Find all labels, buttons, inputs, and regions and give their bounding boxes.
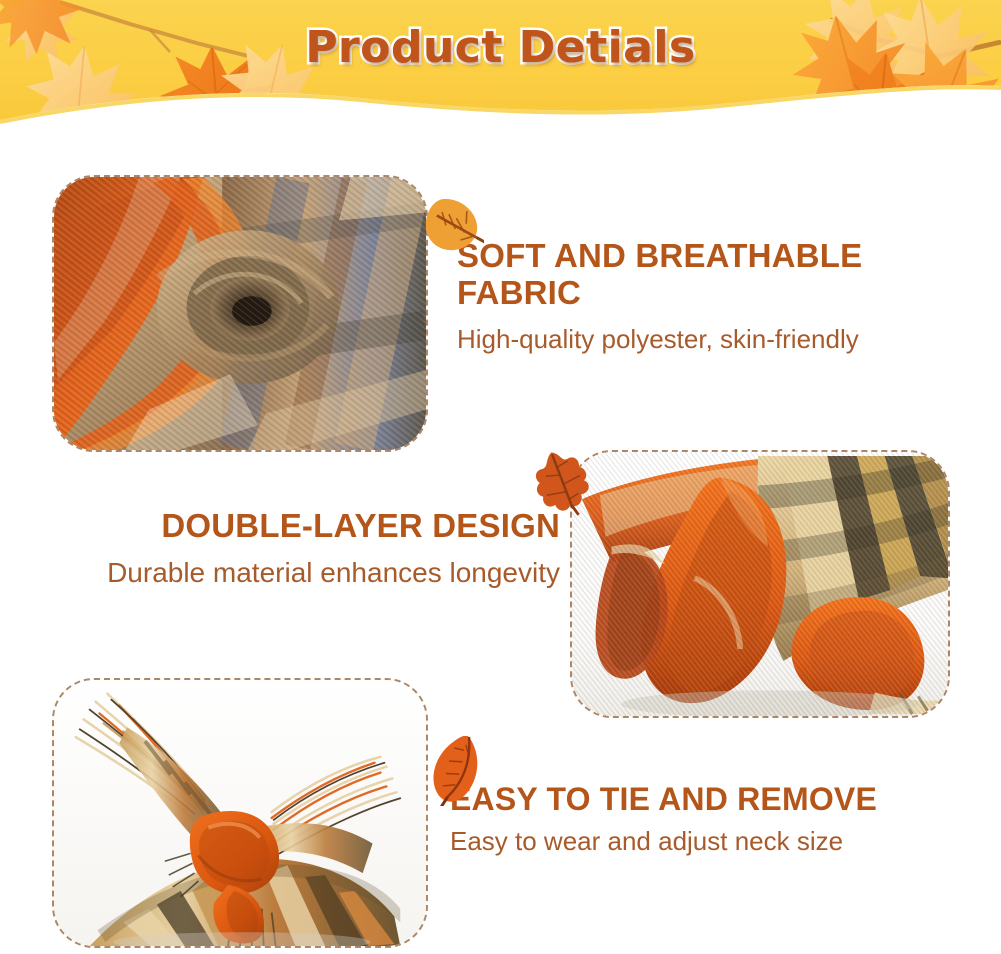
- feature-soft-breathable-fabric: SOFT AND BREATHABLE FABRIC High-quality …: [457, 238, 977, 358]
- oak-leaf-icon: [528, 448, 600, 520]
- feature-double-layer-design: DOUBLE-LAYER DESIGN Durable material enh…: [60, 508, 560, 593]
- feature-easy-to-tie-and-remove: EASY TO TIE AND REMOVE Easy to wear and …: [450, 782, 990, 860]
- feature-heading: DOUBLE-LAYER DESIGN: [60, 508, 560, 545]
- feature-subtitle: High-quality polyester, skin-friendly: [457, 322, 977, 358]
- knotted-scarf-photo: [52, 678, 428, 948]
- product-details-page: Product Detials Product Detials: [0, 0, 1001, 954]
- folded-scarf-illustration: [572, 452, 948, 716]
- folded-scarf-photo: [570, 450, 950, 718]
- page-title-outline: Product Detials: [0, 22, 1001, 73]
- birch-leaf-icon: [418, 192, 484, 258]
- pointed-leaf-icon: [424, 736, 494, 806]
- fabric-closeup-illustration: [54, 177, 426, 450]
- feature-subtitle: Durable material enhances longevity: [60, 554, 560, 593]
- feature-heading: SOFT AND BREATHABLE FABRIC: [457, 238, 977, 312]
- fabric-closeup-photo: [52, 175, 428, 452]
- feature-heading: EASY TO TIE AND REMOVE: [450, 782, 990, 818]
- header-banner: Product Detials Product Detials: [0, 0, 1001, 136]
- feature-subtitle: Easy to wear and adjust neck size: [450, 824, 990, 860]
- knotted-scarf-illustration: [54, 680, 426, 946]
